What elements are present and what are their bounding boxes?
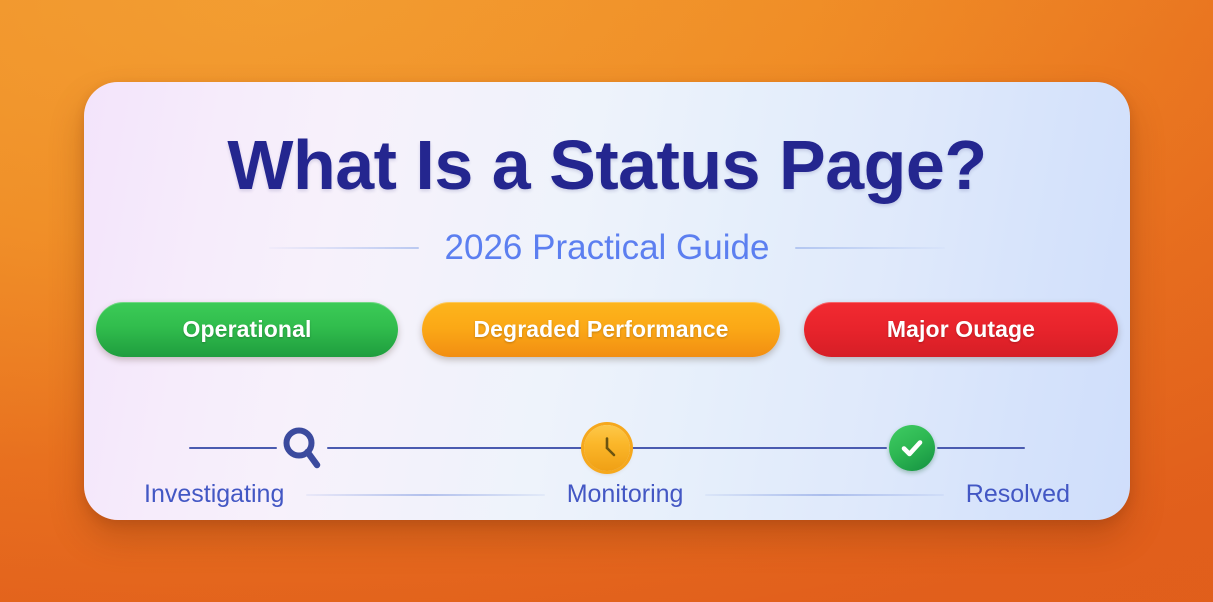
subtitle-rule-left: [269, 247, 419, 249]
status-badge-degraded-performance[interactable]: Degraded Performance: [422, 302, 780, 357]
status-badge-operational[interactable]: Operational: [96, 302, 398, 357]
check-circle-icon: [889, 425, 935, 471]
timeline-line-1: [327, 447, 582, 449]
timeline-label-monitoring: Monitoring: [567, 482, 684, 507]
card-content: What Is a Status Page? 2026 Practical Gu…: [84, 82, 1130, 520]
magnifier-icon: [280, 425, 324, 471]
status-page-card: What Is a Status Page? 2026 Practical Gu…: [84, 82, 1130, 520]
poster-background: What Is a Status Page? 2026 Practical Gu…: [0, 0, 1213, 602]
timeline-track: [189, 416, 1025, 480]
timeline-label-resolved: Resolved: [966, 482, 1070, 507]
page-title: What Is a Status Page?: [84, 130, 1130, 200]
timeline-node-monitoring[interactable]: [582, 423, 632, 473]
timeline-label-rule-1: [306, 494, 544, 496]
timeline-line-end: [937, 447, 1025, 449]
status-badge-group: Operational Degraded Performance Major O…: [84, 302, 1130, 357]
timeline-line-2: [632, 447, 887, 449]
timeline-labels: Investigating Monitoring Resolved: [144, 482, 1070, 507]
timeline-line-start: [189, 447, 277, 449]
status-badge-major-outage[interactable]: Major Outage: [804, 302, 1118, 357]
incident-timeline: Investigating Monitoring Resolved: [189, 400, 1025, 500]
subtitle-rule-right: [795, 247, 945, 249]
timeline-node-resolved[interactable]: [887, 423, 937, 473]
subtitle-row: 2026 Practical Guide: [84, 230, 1130, 265]
page-subtitle: 2026 Practical Guide: [445, 230, 770, 265]
timeline-label-investigating: Investigating: [144, 482, 284, 507]
timeline-label-rule-2: [705, 494, 943, 496]
timeline-node-investigating[interactable]: [277, 423, 327, 473]
clock-icon: [584, 425, 630, 471]
